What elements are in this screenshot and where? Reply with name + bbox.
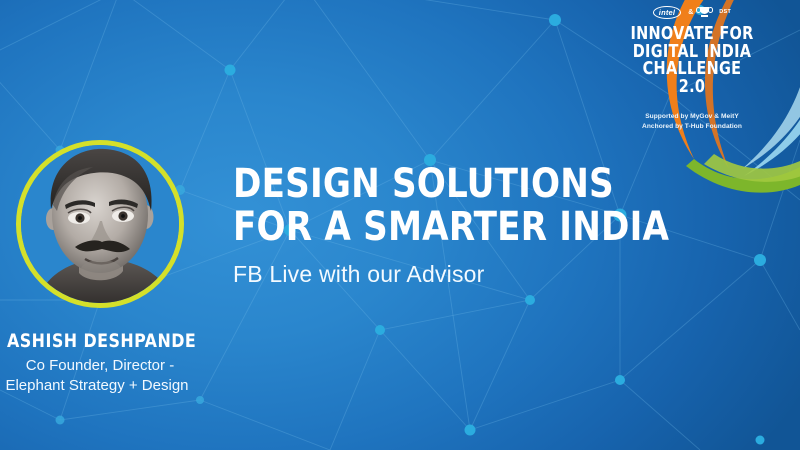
headline-subtitle: FB Live with our Advisor bbox=[233, 261, 692, 288]
supported-by-text: Supported by MyGov & MeitY bbox=[612, 112, 772, 122]
headline-block: DESIGN SOLUTIONS FOR A SMARTER INDIA FB … bbox=[233, 164, 692, 288]
challenge-title-line1: INNOVATE FOR bbox=[618, 26, 765, 44]
poster-canvas: intel & DST INNOVATE FOR DIGITAL INDIA C… bbox=[0, 0, 800, 450]
avatar bbox=[16, 140, 184, 308]
challenge-support-credits: Supported by MyGov & MeitY Anchored by T… bbox=[612, 112, 772, 131]
challenge-title: INNOVATE FOR DIGITAL INDIA CHALLENGE 2.0 bbox=[618, 26, 765, 96]
speaker-name: ASHISH DESHPANDE bbox=[7, 330, 193, 352]
page-title: DESIGN SOLUTIONS FOR A SMARTER INDIA bbox=[233, 164, 669, 247]
headline-line2: FOR A SMARTER INDIA bbox=[233, 207, 669, 247]
speaker-role-line1: Co Founder, Director - bbox=[0, 356, 200, 376]
anchored-by-text: Anchored by T-Hub Foundation bbox=[612, 122, 772, 132]
speaker-role-line2: Elephant Strategy + Design bbox=[0, 376, 200, 396]
challenge-title-line3: CHALLENGE bbox=[618, 61, 765, 79]
speaker-panel: ASHISH DESHPANDE Co Founder, Director - … bbox=[0, 140, 200, 396]
challenge-logo-block: intel & DST INNOVATE FOR DIGITAL INDIA C… bbox=[612, 4, 772, 131]
intel-logo-icon: intel bbox=[653, 6, 681, 19]
dst-logo-label: DST bbox=[719, 9, 731, 15]
headline-line1: DESIGN SOLUTIONS bbox=[233, 161, 614, 207]
sponsor-logo-row: intel & DST bbox=[612, 4, 772, 20]
ampersand-label: & bbox=[688, 9, 693, 16]
speaker-role: Co Founder, Director - Elephant Strategy… bbox=[0, 356, 200, 396]
speaker-portrait-icon bbox=[17, 141, 183, 307]
dst-trophy-icon bbox=[700, 7, 709, 17]
challenge-version: 2.0 bbox=[618, 79, 765, 97]
